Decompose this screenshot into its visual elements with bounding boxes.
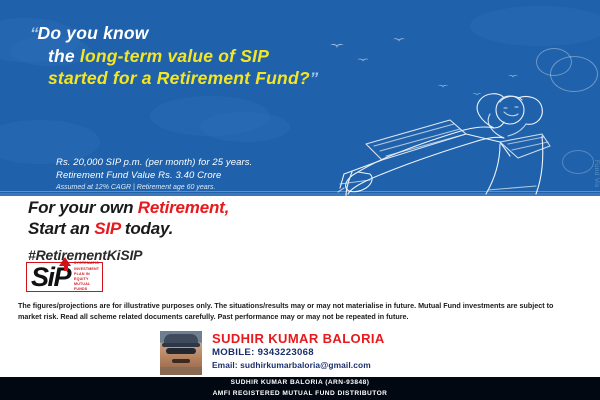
advisor-mobile[interactable]: MOBILE: 9343223068 — [212, 347, 385, 360]
cap-brim-shape — [162, 343, 200, 347]
advisor-email[interactable]: Email: sudhirkumarbaloria@gmail.com — [212, 360, 385, 371]
headline-line-1: “Do you know — [30, 22, 317, 45]
cta-line-2-emphasis: SIP — [94, 219, 120, 238]
call-to-action-block: For your own Retirement, Start an SIP to… — [28, 198, 229, 263]
footer-arn-line: SUDHIR KUMAR BALORIA (ARN-93848) — [231, 378, 370, 389]
headline-line-2-plain: the — [48, 46, 80, 66]
open-quote-icon: “ — [30, 24, 38, 43]
cta-line-2-plain-end: today. — [120, 219, 173, 238]
sip-sub-line-1: SYSTEMATIC — [74, 261, 99, 266]
hero-watermark: Fund Vis — [593, 160, 599, 188]
advisor-block: SUDHIR KUMAR BALORIA MOBILE: 9343223068 … — [160, 331, 385, 375]
cta-line-2: Start an SIP today. — [28, 219, 229, 240]
hero-panel: Fund Vis “Do you know the long-term valu… — [0, 0, 600, 196]
bird-icon — [393, 38, 406, 44]
headline-line-2-emphasis: long-term value of SIP — [80, 46, 269, 66]
headline-line-1-text: Do you know — [38, 23, 149, 43]
advisor-photo — [160, 331, 202, 375]
advisor-contact-details: SUDHIR KUMAR BALORIA MOBILE: 9343223068 … — [212, 331, 385, 371]
headline-line-3-emphasis: started for a Retirement Fund? — [48, 68, 310, 88]
figures-block: Rs. 20,000 SIP p.m. (per month) for 25 y… — [56, 156, 252, 193]
advertisement-poster: Fund Vis “Do you know the long-term valu… — [0, 0, 600, 400]
hero-divider-soft — [0, 193, 600, 196]
bird-icon — [357, 59, 368, 65]
cta-line-1-plain: For your own — [28, 198, 138, 217]
sip-sub-line-6: FUNDS — [74, 287, 99, 292]
sip-logo-subtext: SYSTEMATIC INVESTMENT PLAN IN EQUITY MUT… — [74, 261, 99, 292]
figures-line-2: Retirement Fund Value Rs. 3.40 Crore — [56, 169, 252, 182]
bird-icon — [330, 44, 344, 51]
footer-bar: SUDHIR KUMAR BALORIA (ARN-93848) AMFI RE… — [0, 377, 600, 400]
footer-registration-line: AMFI REGISTERED MUTUAL FUND DISTRIBUTOR — [213, 389, 388, 400]
headline-block: “Do you know the long-term value of SIP … — [30, 22, 317, 90]
cloud-shape — [470, 6, 600, 46]
shirt-shape — [160, 367, 202, 375]
cta-line-1: For your own Retirement, — [28, 198, 229, 219]
headline-line-2: the long-term value of SIP — [30, 45, 317, 67]
relaxing-person-illustration — [304, 72, 594, 196]
hero-divider — [0, 191, 600, 192]
advisor-name: SUDHIR KUMAR BALORIA — [212, 332, 385, 347]
cta-line-1-emphasis: Retirement, — [138, 198, 229, 217]
sip-wordmark: SiP — [31, 264, 70, 290]
cta-line-2-plain-start: Start an — [28, 219, 94, 238]
headline-line-3: started for a Retirement Fund?” — [30, 67, 317, 90]
sip-logo: SiP SYSTEMATIC INVESTMENT PLAN IN EQUITY… — [26, 262, 103, 292]
disclaimer-text: The figures/projections are for illustra… — [18, 300, 574, 322]
cloud-shape — [200, 112, 290, 142]
sunglasses-icon — [166, 348, 196, 354]
figures-line-1: Rs. 20,000 SIP p.m. (per month) for 25 y… — [56, 156, 252, 169]
up-arrow-stem-icon — [64, 265, 68, 271]
mustache-shape — [172, 359, 190, 363]
close-quote-icon: ” — [310, 69, 318, 88]
